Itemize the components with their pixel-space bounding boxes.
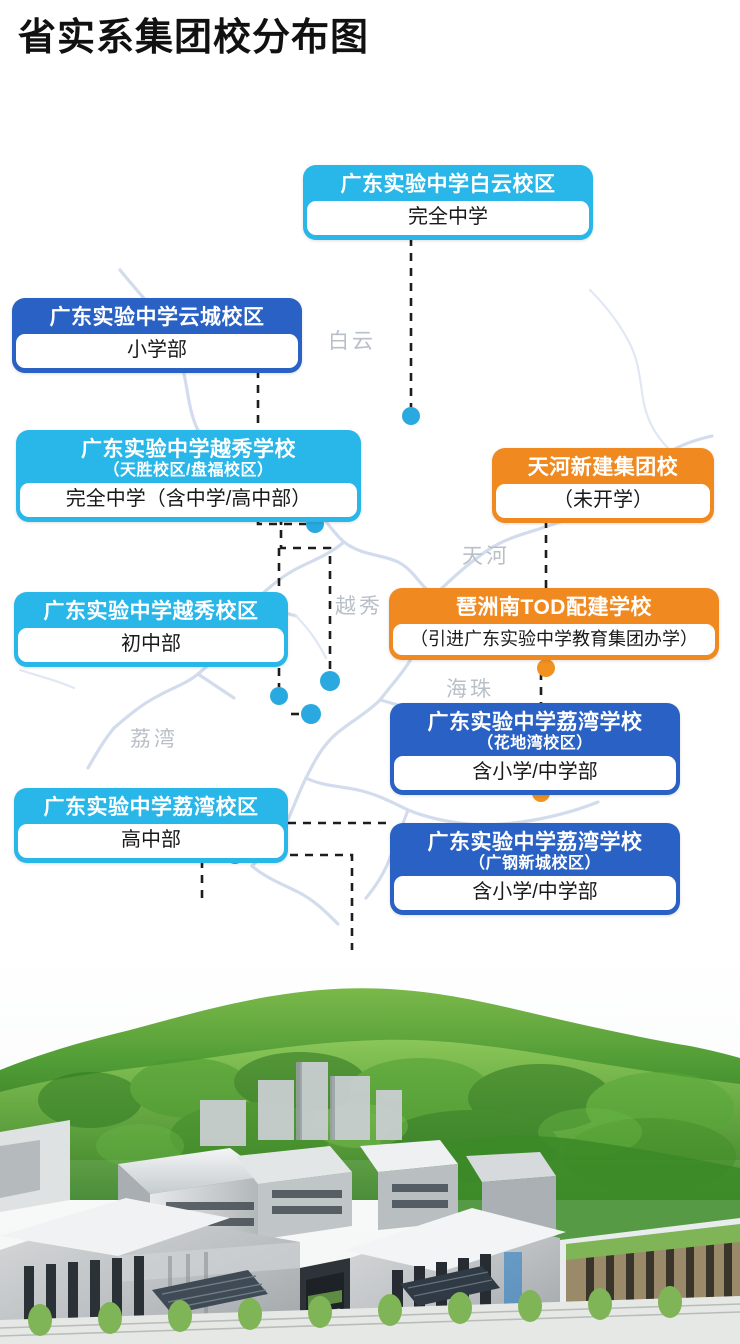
callout-liwan-huadiwan[interactable]: 广东实验中学荔湾学校 （花地湾校区） 含小学/中学部 bbox=[390, 703, 680, 795]
district-label-liwan: 荔湾 bbox=[130, 723, 178, 753]
district-label-haizhu: 海珠 bbox=[446, 673, 494, 703]
marker-yuexiu-school-2[interactable] bbox=[270, 687, 288, 705]
district-label-yuexiu: 越秀 bbox=[335, 590, 383, 620]
callout-yuncheng-detail: 小学部 bbox=[16, 334, 298, 368]
callout-liwan-huadiwan-detail: 含小学/中学部 bbox=[394, 756, 676, 790]
callout-yuncheng-head: 广东实验中学云城校区 bbox=[16, 302, 298, 334]
callout-liwan-ganggang-detail: 含小学/中学部 bbox=[394, 876, 676, 910]
callout-liwan-huadiwan-head: 广东实验中学荔湾学校 （花地湾校区） bbox=[394, 707, 676, 756]
callout-yuexiu-school-head: 广东实验中学越秀学校 （天胜校区/盘福校区） bbox=[20, 434, 357, 483]
callout-liwan-campus-detail: 高中部 bbox=[18, 824, 284, 858]
callout-pazhou-tod-detail: （引进广东实验中学教育集团办学） bbox=[393, 624, 715, 655]
callout-yuexiu-school[interactable]: 广东实验中学越秀学校 （天胜校区/盘福校区） 完全中学（含中学/高中部） bbox=[16, 430, 361, 522]
marker-baiyun[interactable] bbox=[402, 407, 420, 425]
marker-yuexiu-school[interactable] bbox=[320, 671, 340, 691]
callout-baiyun-head: 广东实验中学白云校区 bbox=[307, 169, 589, 201]
callout-yuncheng[interactable]: 广东实验中学云城校区 小学部 bbox=[12, 298, 302, 373]
page-title: 省实系集团校分布图 bbox=[18, 16, 369, 62]
callout-liwan-campus[interactable]: 广东实验中学荔湾校区 高中部 bbox=[14, 788, 288, 863]
campus-photo bbox=[0, 950, 740, 1344]
callout-yuexiu-campus-detail: 初中部 bbox=[18, 628, 284, 662]
callout-liwan-ganggang-head: 广东实验中学荔湾学校 （广钢新城校区） bbox=[394, 827, 676, 876]
marker-tianhe[interactable] bbox=[537, 659, 555, 677]
callout-pazhou-tod-head: 琶洲南TOD配建学校 bbox=[393, 592, 715, 624]
callout-tianhe-new-head: 天河新建集团校 bbox=[496, 452, 710, 484]
callout-tianhe-new[interactable]: 天河新建集团校 （未开学） bbox=[492, 448, 714, 523]
callout-tianhe-new-detail: （未开学） bbox=[496, 484, 710, 518]
callout-liwan-ganggang[interactable]: 广东实验中学荔湾学校 （广钢新城校区） 含小学/中学部 bbox=[390, 823, 680, 915]
callout-liwan-campus-head: 广东实验中学荔湾校区 bbox=[18, 792, 284, 824]
callout-baiyun[interactable]: 广东实验中学白云校区 完全中学 bbox=[303, 165, 593, 240]
district-label-baiyun: 白云 bbox=[328, 325, 376, 355]
callout-yuexiu-campus[interactable]: 广东实验中学越秀校区 初中部 bbox=[14, 592, 288, 667]
infographic-page: 省实系集团校分布图 bbox=[0, 0, 740, 1344]
callout-yuexiu-school-detail: 完全中学（含中学/高中部） bbox=[20, 483, 357, 517]
marker-yuexiu-campus[interactable] bbox=[301, 704, 321, 724]
callout-baiyun-detail: 完全中学 bbox=[307, 201, 589, 235]
callout-pazhou-tod[interactable]: 琶洲南TOD配建学校 （引进广东实验中学教育集团办学） bbox=[389, 588, 719, 660]
campus-photo-illustration bbox=[0, 950, 740, 1344]
district-label-tianhe: 天河 bbox=[462, 540, 510, 570]
map-area: 白云 天河 越秀 海珠 荔湾 广东实验中学白云校区 完全中学 广东实验中学云城校… bbox=[0, 110, 740, 950]
callout-yuexiu-campus-head: 广东实验中学越秀校区 bbox=[18, 596, 284, 628]
